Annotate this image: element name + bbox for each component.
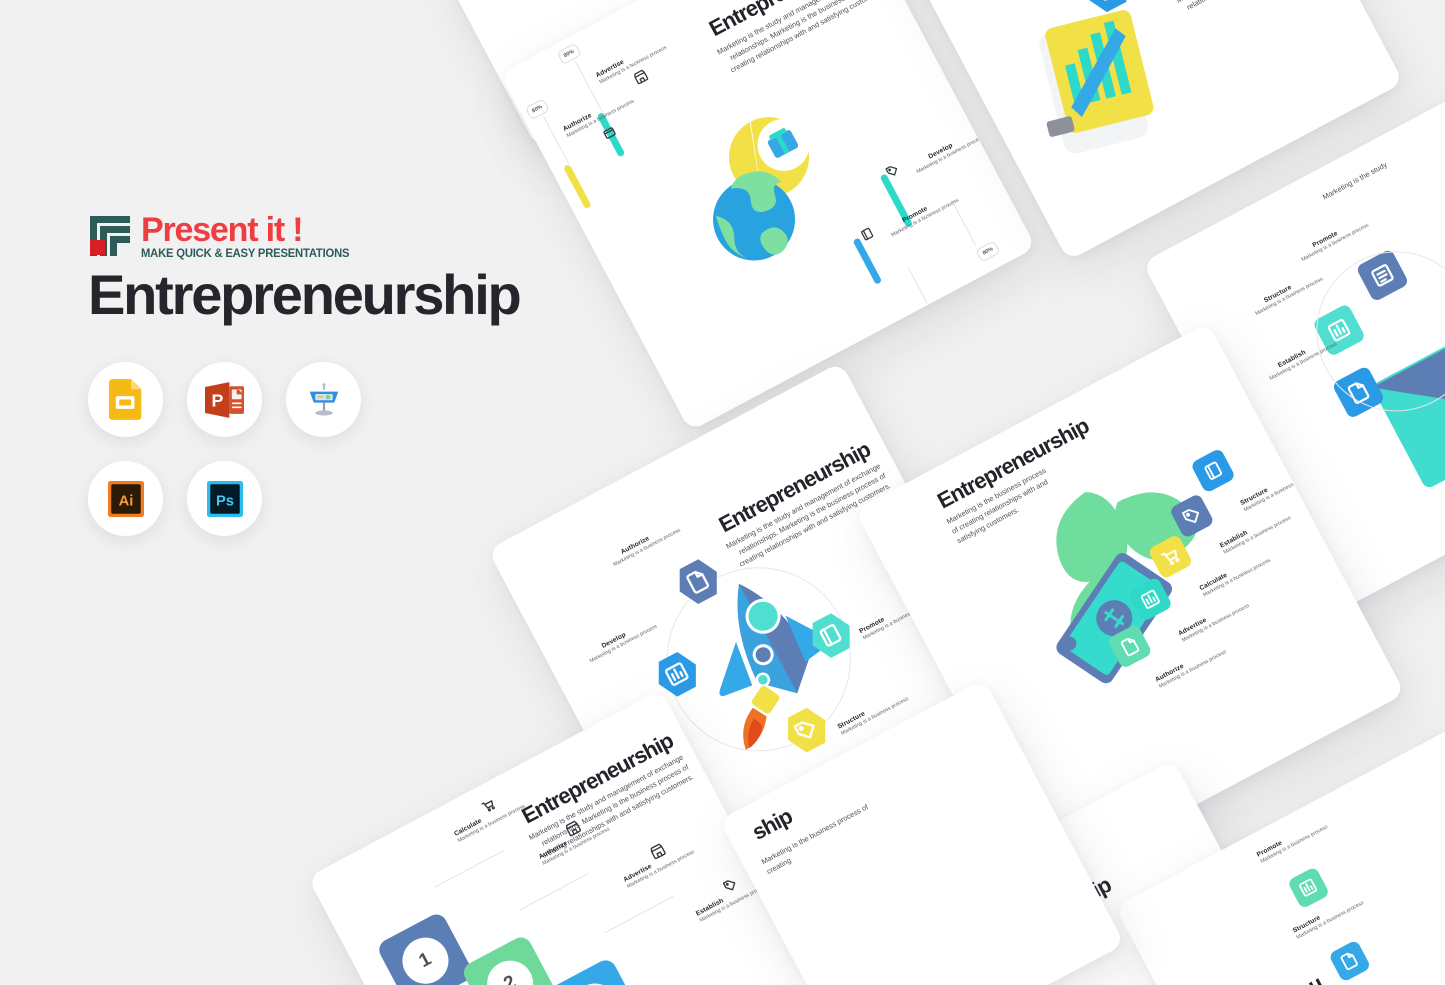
item-label-structure: Structure Marketing is a business proces… bbox=[1251, 284, 1297, 318]
connector-line bbox=[519, 873, 588, 911]
logo: Present it ! MAKE QUICK & EASY PRESENTAT… bbox=[88, 214, 608, 262]
item-label-structure: Structure Marketing is a business proces… bbox=[1239, 480, 1285, 514]
slide-title: Entrepreneu bbox=[1210, 971, 1327, 985]
item-label-promote: Promote Marketing is a business process bbox=[887, 205, 933, 239]
item-label-advertise: Advertise Marketing is a business proces… bbox=[622, 857, 668, 891]
svg-text:Ai: Ai bbox=[118, 493, 133, 509]
item-label-calculate: Calculate Marketing is a business proces… bbox=[453, 811, 499, 845]
item-label-structure: Structure Marketing is a business proces… bbox=[1292, 908, 1338, 942]
step-number: 3 bbox=[564, 976, 626, 985]
globe-illustration bbox=[663, 79, 884, 291]
item-label-develop: Develop Marketing is a business process bbox=[585, 631, 631, 665]
tag-icon bbox=[720, 875, 740, 895]
cart-icon bbox=[478, 795, 498, 815]
format-powerpoint[interactable]: P bbox=[187, 362, 262, 437]
item-label-promote: Promote Marketing is a business process bbox=[1297, 230, 1343, 264]
connector-line bbox=[543, 116, 569, 164]
book-icon bbox=[1199, 457, 1227, 485]
percent-badge: 80% bbox=[976, 240, 1001, 262]
powerpoint-icon: P bbox=[205, 382, 244, 418]
step-number: 2 bbox=[479, 953, 541, 985]
logo-tagline: MAKE QUICK & EASY PRESENTATIONS bbox=[141, 246, 349, 262]
store-icon bbox=[631, 67, 650, 86]
item-label-establish: Establish Marketing is a business proces… bbox=[695, 891, 741, 925]
file-icon bbox=[1116, 633, 1144, 661]
chart-icon bbox=[1296, 875, 1322, 901]
connector-line bbox=[435, 850, 504, 888]
item-label-establish: Establish Marketing is a business proces… bbox=[1265, 349, 1311, 383]
rsq-promote[interactable] bbox=[1287, 866, 1330, 909]
progress-bar bbox=[563, 164, 592, 210]
slide-title-fragment: ship bbox=[748, 803, 797, 845]
format-row-1: P bbox=[88, 362, 388, 437]
logo-name: Present it ! bbox=[141, 214, 356, 246]
connector-line bbox=[604, 896, 673, 934]
tag-icon bbox=[790, 713, 824, 747]
connector-line bbox=[908, 267, 928, 303]
branding-block: Present it ! MAKE QUICK & EASY PRESENTAT… bbox=[88, 214, 608, 323]
step-number: 1 bbox=[394, 930, 456, 985]
file-icon bbox=[1337, 948, 1363, 974]
photoshop-icon: Ps bbox=[207, 481, 243, 517]
book-icon bbox=[814, 619, 848, 653]
format-photoshop[interactable]: Ps bbox=[187, 461, 262, 536]
item-label-promote: Promote Marketing is a business process bbox=[858, 608, 904, 642]
phone-bar-chart-illustration bbox=[1015, 0, 1194, 167]
step-block-2[interactable]: 2 bbox=[460, 934, 560, 985]
file-icon bbox=[681, 565, 715, 599]
percent-badge: 80% bbox=[525, 98, 550, 120]
progress-bar bbox=[853, 237, 883, 284]
chart-icon bbox=[660, 657, 694, 691]
percent-badge: 80% bbox=[926, 296, 951, 318]
format-row-2: Ai Ps bbox=[88, 461, 388, 536]
connector-line bbox=[575, 61, 603, 113]
tag-icon bbox=[1178, 502, 1206, 530]
format-illustrator[interactable]: Ai bbox=[88, 461, 163, 536]
chart-icon bbox=[1136, 585, 1164, 613]
logo-wordmark: Present it ! MAKE QUICK & EASY PRESENTAT… bbox=[141, 214, 356, 262]
connector-line bbox=[951, 199, 976, 245]
item-label-develop: Develop Marketing is a business process bbox=[912, 142, 958, 176]
store-icon bbox=[648, 841, 668, 861]
svg-text:Ps: Ps bbox=[215, 493, 233, 509]
format-google-slides[interactable] bbox=[88, 362, 163, 437]
poster-canvas: Entrepreneurship Marketing is the study … bbox=[0, 0, 1445, 985]
item-label-authorize: Authorize Marketing is a business proces… bbox=[609, 535, 655, 569]
step-block-3[interactable]: 3 bbox=[545, 957, 645, 985]
google-slides-icon bbox=[109, 379, 143, 420]
page-title: Entrepreneurship bbox=[88, 266, 608, 323]
slide-subtitle: Marketing is the study bbox=[1320, 122, 1445, 202]
svg-text:P: P bbox=[212, 390, 224, 410]
format-icons: P Ai bbox=[88, 362, 388, 560]
slide-subtitle: Marketing is the business process of cre… bbox=[1146, 0, 1315, 31]
item-label-advertise: Advertise Marketing is a business proces… bbox=[595, 52, 641, 86]
cart-icon bbox=[1157, 543, 1185, 571]
rsq-structure[interactable] bbox=[1328, 939, 1371, 982]
format-keynote[interactable] bbox=[286, 362, 361, 437]
percent-badge: 80% bbox=[557, 43, 582, 65]
item-label-promote: Promote Marketing is a business process bbox=[1256, 832, 1302, 866]
keynote-icon bbox=[305, 382, 343, 417]
step-block-1[interactable]: 1 bbox=[375, 911, 475, 985]
item-label-authorize: Authorize Marketing is a business proces… bbox=[562, 106, 608, 140]
present-it-logo-icon bbox=[88, 214, 132, 258]
illustrator-icon: Ai bbox=[108, 481, 144, 517]
